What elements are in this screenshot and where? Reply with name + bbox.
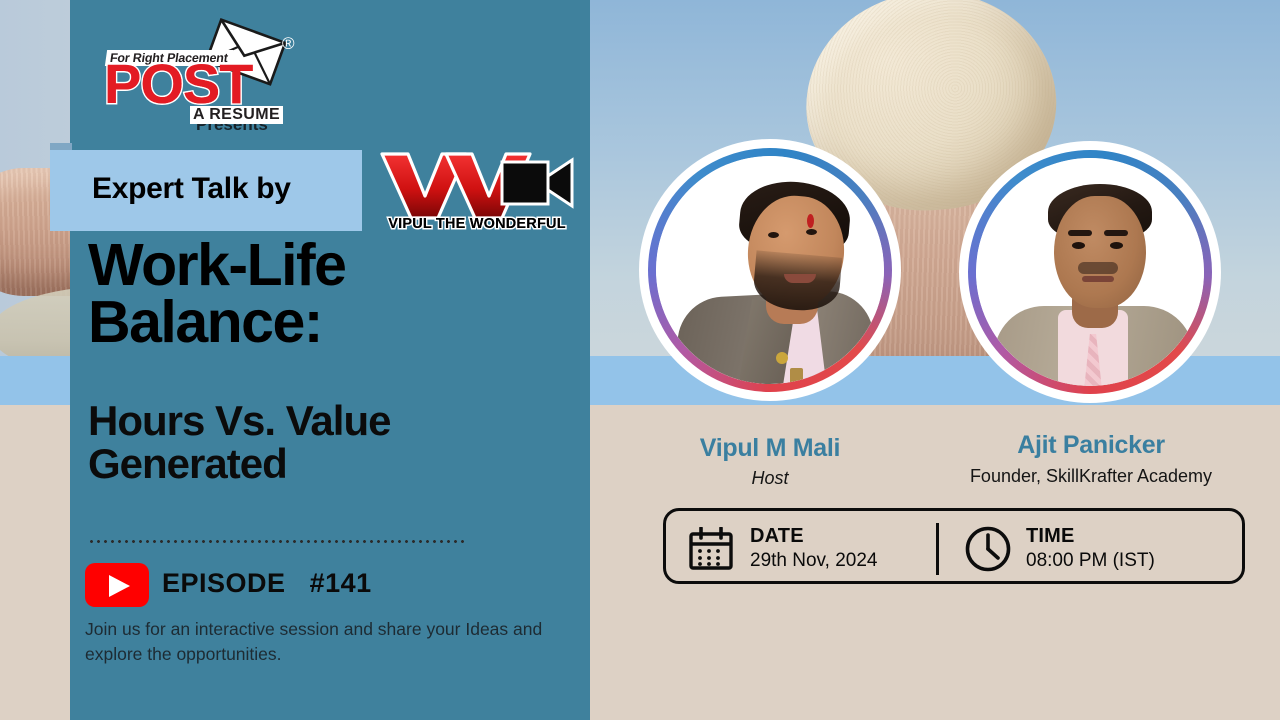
- dotted-divider: [88, 540, 467, 543]
- page-subtitle: Hours Vs. Value Generated: [88, 400, 568, 486]
- webinar-poster: POST POST For Right Placement A RESUME ®…: [0, 0, 1280, 720]
- schedule-divider: [936, 523, 939, 575]
- post-a-resume-logo: POST POST For Right Placement A RESUME ®: [100, 22, 300, 114]
- speaker-1-role: Host: [640, 468, 900, 489]
- youtube-play-icon[interactable]: [85, 563, 149, 607]
- speaker-1-name: Vipul M Mali: [640, 434, 900, 463]
- registered-mark: ®: [282, 34, 295, 54]
- episode-badge: EPISODE #141: [162, 568, 372, 599]
- logo-subtitle: A RESUME: [190, 106, 283, 124]
- speaker-photo-vipul-m-mali: [656, 156, 884, 384]
- speaker-photo-ajit-panicker: [976, 158, 1204, 386]
- logo-word: POST: [104, 56, 252, 112]
- date-label: DATE: [750, 525, 804, 548]
- episode-label: EPISODE: [162, 568, 286, 598]
- speaker-2-avatar: [959, 141, 1221, 403]
- subtitle-line-2: Generated: [88, 443, 568, 486]
- time-label: TIME: [1026, 525, 1075, 548]
- title-line-1: Work-Life: [88, 237, 568, 294]
- title-line-2: Balance:: [88, 294, 568, 351]
- speaker-2-role: Founder, SkillKrafter Academy: [931, 466, 1251, 487]
- schedule-panel: DATE 29th Nov, 2024 TIME 08:00 PM (IST): [663, 508, 1245, 584]
- speaker-2-gradient-ring: [968, 150, 1212, 394]
- calendar-icon: [688, 527, 734, 571]
- episode-number: #141: [310, 568, 372, 598]
- speaker-2-name: Ajit Panicker: [961, 431, 1221, 460]
- subtitle-line-1: Hours Vs. Value: [88, 400, 568, 443]
- episode-blurb: Join us for an interactive session and s…: [85, 617, 555, 668]
- vipul-the-wonderful-logo: VIPUL THE WONDERFUL VIPUL THE WONDERFUL: [378, 148, 576, 232]
- time-value: 08:00 PM (IST): [1026, 550, 1155, 572]
- page-title: Work-Life Balance:: [88, 237, 568, 351]
- expert-talk-label: Expert Talk by: [92, 172, 291, 206]
- speaker-1-inner-ring: [656, 156, 884, 384]
- speaker-1-gradient-ring: [648, 148, 892, 392]
- vw-caption: VIPUL THE WONDERFUL: [378, 216, 576, 232]
- date-value: 29th Nov, 2024: [750, 550, 877, 572]
- clock-icon: [964, 525, 1012, 573]
- speaker-1-avatar: [639, 139, 901, 401]
- speaker-2-inner-ring: [976, 158, 1204, 386]
- play-triangle-icon: [109, 575, 130, 597]
